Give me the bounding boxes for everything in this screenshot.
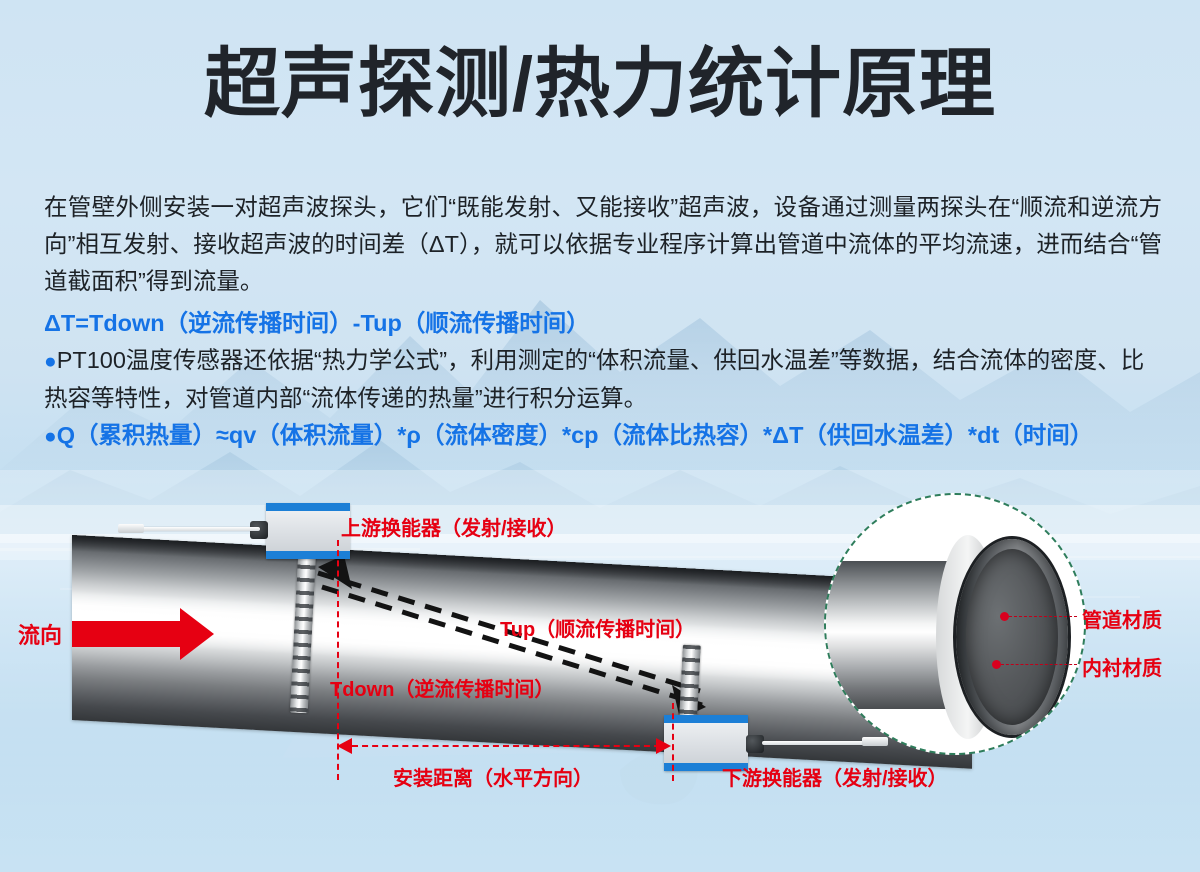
pt100-bullet-line: ●PT100温度传感器还依据“热力学公式”，利用测定的“体积流量、供回水温差”等…	[44, 342, 1162, 417]
flow-direction-label: 流向	[18, 618, 62, 650]
downstream-transducer-cable	[762, 741, 870, 745]
intro-paragraph: 在管壁外侧安装一对超声波探头，它们“既能发射、又能接收”超声波，设备通过测量两探…	[44, 189, 1162, 300]
upstream-transducer-label: 上游换能器（发射/接收）	[341, 512, 567, 541]
poster-root: 超声探测/热力统计原理 在管壁外侧安装一对超声波探头，它们“既能发射、又能接收”…	[0, 0, 1200, 872]
downstream-cable-tip	[862, 737, 888, 746]
pipe-material-leader-line	[1009, 616, 1077, 617]
upstream-transducer-cable	[140, 527, 260, 531]
downstream-reference-line	[672, 703, 674, 781]
pt100-bullet-text: PT100温度传感器还依据“热力学公式”，利用测定的“体积流量、供回水温差”等数…	[44, 347, 1144, 411]
liner-material-leader-dot	[992, 660, 1001, 669]
tdown-label: Tdown（逆流传播时间）	[330, 673, 554, 702]
upstream-transducer-band-top	[266, 503, 350, 511]
bullet-dot-icon: ●	[44, 350, 57, 373]
formula-q-line: ●Q（累积热量）≈qv（体积流量）*ρ（流体密度）*cp（流体比热容）*ΔT（供…	[44, 417, 1162, 455]
pipe-material-label: 管道材质	[1082, 604, 1162, 633]
page-title: 超声探测/热力统计原理	[0, 42, 1200, 128]
flow-arrow-head	[180, 608, 214, 660]
tup-label: Tup（顺流传播时间）	[500, 613, 695, 642]
description-block: 在管壁外侧安装一对超声波探头，它们“既能发射、又能接收”超声波，设备通过测量两探…	[44, 189, 1162, 455]
downstream-transducer-band-top	[664, 715, 748, 723]
bullet-dot-icon-2: ●	[44, 425, 57, 448]
formula-q-text: Q（累积热量）≈qv（体积流量）*ρ（流体密度）*cp（流体比热容）*ΔT（供回…	[57, 422, 1094, 448]
flow-arrow-shaft	[72, 621, 182, 647]
install-distance-arrow-left-icon	[337, 738, 352, 754]
install-distance-label: 安装距离（水平方向）	[393, 762, 593, 791]
install-distance-arrow-right-icon	[656, 738, 671, 754]
formula-delta-t: ΔT=Tdown（逆流传播时间）-Tup（顺流传播时间）	[44, 305, 1162, 342]
liner-material-label: 内衬材质	[1082, 652, 1162, 681]
pipe-diagram: 流向 上游换能器（发射/接收） Tup（顺流传播时间） Tdown（逆流传播时间…	[0, 455, 1200, 872]
upstream-cable-tip	[118, 524, 144, 533]
install-distance-dimension-line	[352, 745, 660, 747]
pipe-material-leader-dot	[1000, 612, 1009, 621]
liner-material-leader-line	[1001, 664, 1077, 665]
downstream-transducer-label: 下游换能器（发射/接收）	[722, 762, 948, 791]
